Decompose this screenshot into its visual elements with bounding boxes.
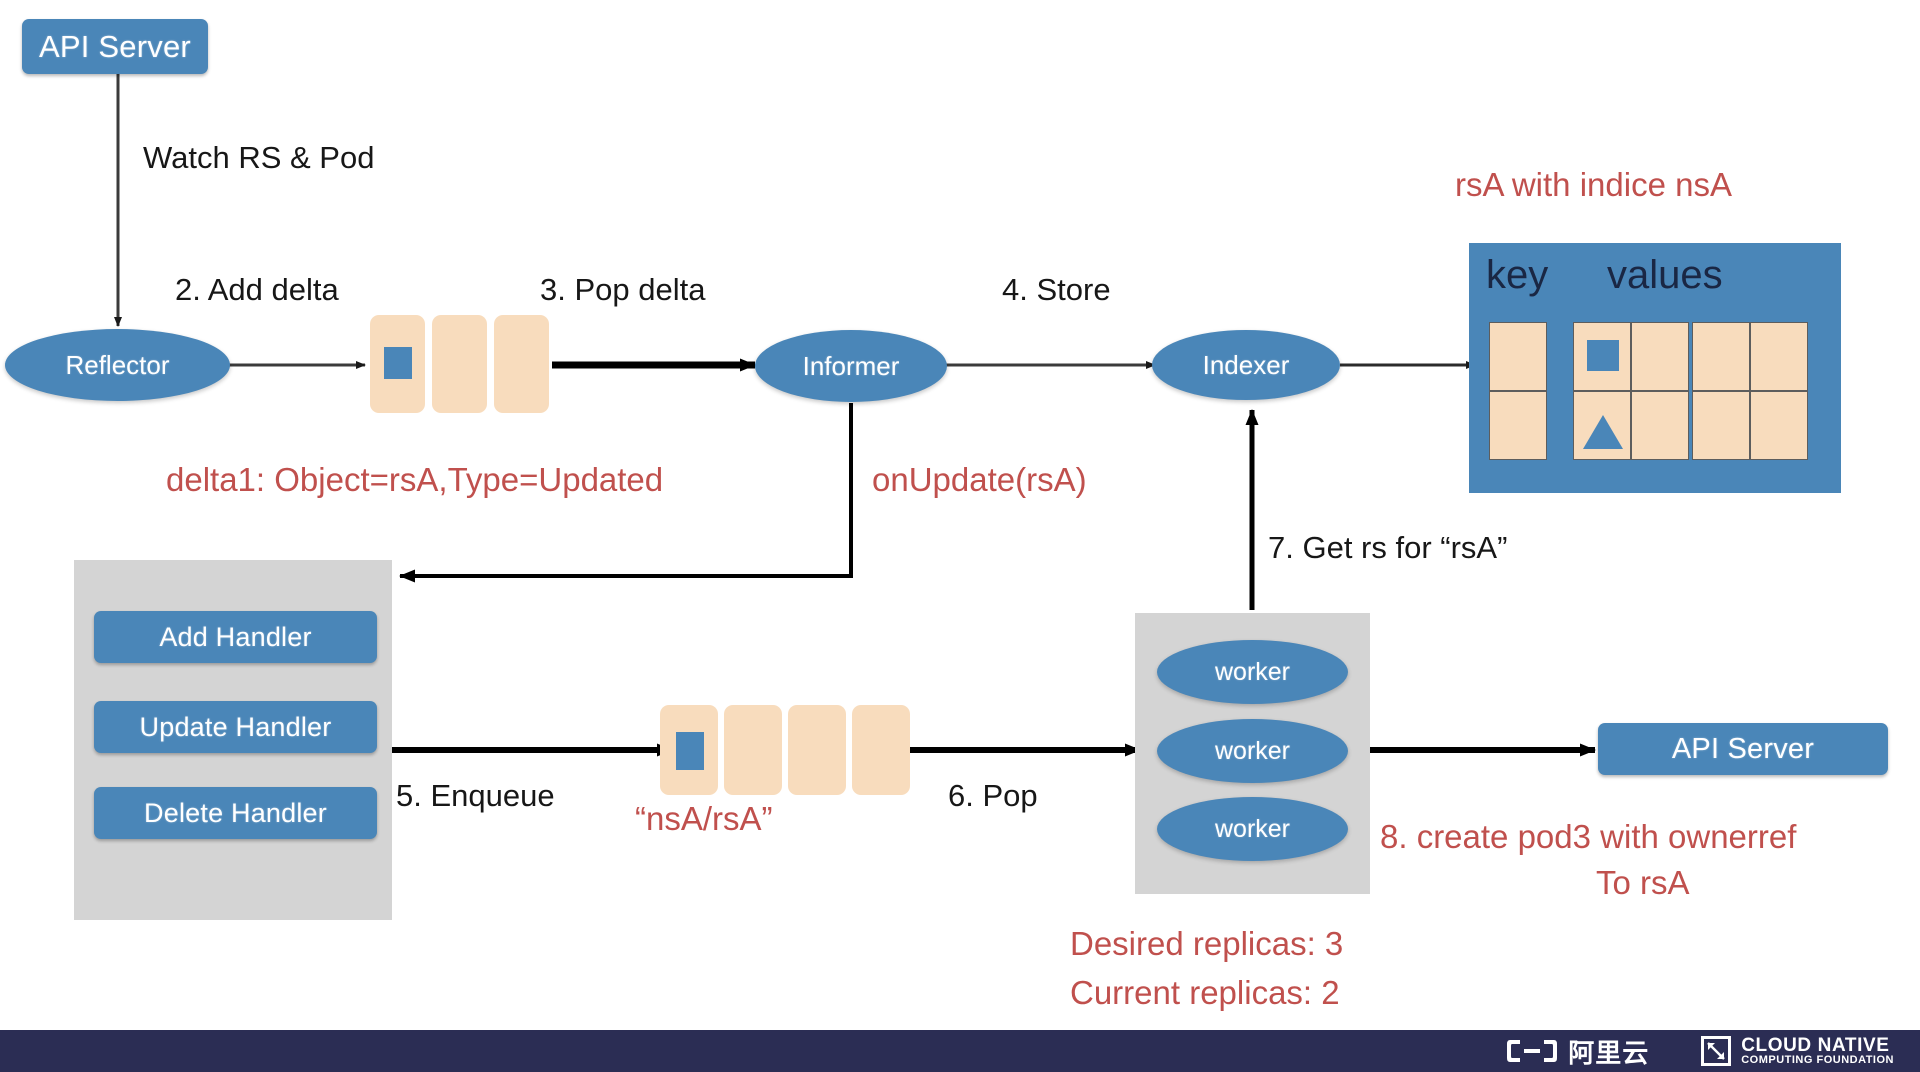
step8-annotation-line2: To rsA bbox=[1596, 864, 1690, 902]
delta-card-3[interactable] bbox=[494, 315, 549, 413]
queue-key-annotation: “nsA/rsA” bbox=[635, 800, 773, 838]
slide-canvas: API Server Watch RS & Pod Reflector 2. A… bbox=[0, 0, 1920, 1072]
step6-label: 6. Pop bbox=[948, 778, 1038, 814]
worker-node-3[interactable]: worker bbox=[1157, 797, 1348, 861]
kv-value-cell-r2c2[interactable] bbox=[1631, 391, 1689, 460]
on-update-annotation: onUpdate(rsA) bbox=[872, 461, 1087, 499]
kv-key-cell-r2[interactable] bbox=[1489, 391, 1547, 460]
square-glyph-icon bbox=[384, 347, 412, 379]
reflector-node[interactable]: Reflector bbox=[5, 329, 230, 401]
reflector-label: Reflector bbox=[65, 350, 169, 381]
workers-panel: worker worker worker bbox=[1135, 613, 1370, 894]
kv-value-cell-r1c1[interactable] bbox=[1573, 322, 1631, 391]
api-server-node-top[interactable]: API Server bbox=[22, 19, 208, 74]
aliyun-logo-text: 阿里云 bbox=[1568, 1033, 1649, 1070]
add-handler-node[interactable]: Add Handler bbox=[94, 611, 377, 663]
triangle-glyph-icon bbox=[1583, 415, 1623, 449]
update-handler-label: Update Handler bbox=[140, 712, 332, 743]
rsa-indice-annotation: rsA with indice nsA bbox=[1455, 166, 1732, 204]
step2-label: 2. Add delta bbox=[175, 272, 339, 308]
delete-handler-node[interactable]: Delete Handler bbox=[94, 787, 377, 839]
indexer-node[interactable]: Indexer bbox=[1152, 330, 1340, 400]
cncf-line1: CLOUD NATIVE bbox=[1741, 1036, 1894, 1055]
kv-value-cell-r2c4[interactable] bbox=[1750, 391, 1808, 460]
square-glyph-icon bbox=[676, 732, 704, 770]
api-server-bottom-label: API Server bbox=[1672, 733, 1814, 766]
cncf-line2: COMPUTING FOUNDATION bbox=[1741, 1055, 1894, 1066]
desired-replicas-annotation: Desired replicas: 3 bbox=[1070, 925, 1343, 963]
current-replicas-annotation: Current replicas: 2 bbox=[1070, 974, 1340, 1012]
api-server-node-bottom[interactable]: API Server bbox=[1598, 723, 1888, 775]
work-card-4[interactable] bbox=[852, 705, 910, 795]
watch-label: Watch RS & Pod bbox=[143, 140, 374, 176]
indexer-label: Indexer bbox=[1203, 350, 1290, 381]
add-handler-label: Add Handler bbox=[159, 622, 311, 653]
informer-label: Informer bbox=[803, 351, 900, 382]
kv-value-cell-r1c2[interactable] bbox=[1631, 322, 1689, 391]
work-card-3[interactable] bbox=[788, 705, 846, 795]
kv-value-cell-r1c3[interactable] bbox=[1692, 322, 1750, 391]
kv-value-cell-r1c4[interactable] bbox=[1750, 322, 1808, 391]
kv-value-cell-r2c3[interactable] bbox=[1692, 391, 1750, 460]
delta-card-1[interactable] bbox=[370, 315, 425, 413]
api-server-top-label: API Server bbox=[39, 29, 191, 65]
cncf-mark-icon bbox=[1701, 1036, 1731, 1066]
step7-label: 7. Get rs for “rsA” bbox=[1268, 530, 1507, 566]
work-card-2[interactable] bbox=[724, 705, 782, 795]
aliyun-bracket-icon bbox=[1506, 1037, 1558, 1065]
kv-key-cell-r1[interactable] bbox=[1489, 322, 1547, 391]
informer-node[interactable]: Informer bbox=[755, 330, 947, 402]
step3-label: 3. Pop delta bbox=[540, 272, 705, 308]
delete-handler-label: Delete Handler bbox=[144, 798, 327, 829]
worker-label-3: worker bbox=[1215, 815, 1290, 844]
kv-key-header: key bbox=[1486, 253, 1548, 298]
cncf-logo: CLOUD NATIVE COMPUTING FOUNDATION bbox=[1701, 1036, 1894, 1066]
update-handler-node[interactable]: Update Handler bbox=[94, 701, 377, 753]
delta-card-2[interactable] bbox=[432, 315, 487, 413]
delta1-annotation: delta1: Object=rsA,Type=Updated bbox=[166, 461, 663, 499]
square-glyph-icon bbox=[1587, 340, 1619, 371]
worker-label-2: worker bbox=[1215, 737, 1290, 766]
kv-value-cell-r2c1[interactable] bbox=[1573, 391, 1631, 460]
worker-node-1[interactable]: worker bbox=[1157, 640, 1348, 704]
step4-label: 4. Store bbox=[1002, 272, 1111, 308]
worker-label-1: worker bbox=[1215, 658, 1290, 687]
slide-footer: 阿里云 CLOUD NATIVE COMPUTING FOUNDATION bbox=[0, 1030, 1920, 1072]
kv-values-header: values bbox=[1607, 253, 1723, 298]
worker-node-2[interactable]: worker bbox=[1157, 719, 1348, 783]
step8-annotation-line1: 8. create pod3 with ownerref bbox=[1380, 818, 1796, 856]
event-handlers-panel: Add Handler Update Handler Delete Handle… bbox=[74, 560, 392, 920]
aliyun-logo: 阿里云 bbox=[1506, 1033, 1649, 1070]
work-card-1[interactable] bbox=[660, 705, 718, 795]
step5-label: 5. Enqueue bbox=[396, 778, 555, 814]
indexer-kv-table: key values bbox=[1469, 243, 1841, 493]
